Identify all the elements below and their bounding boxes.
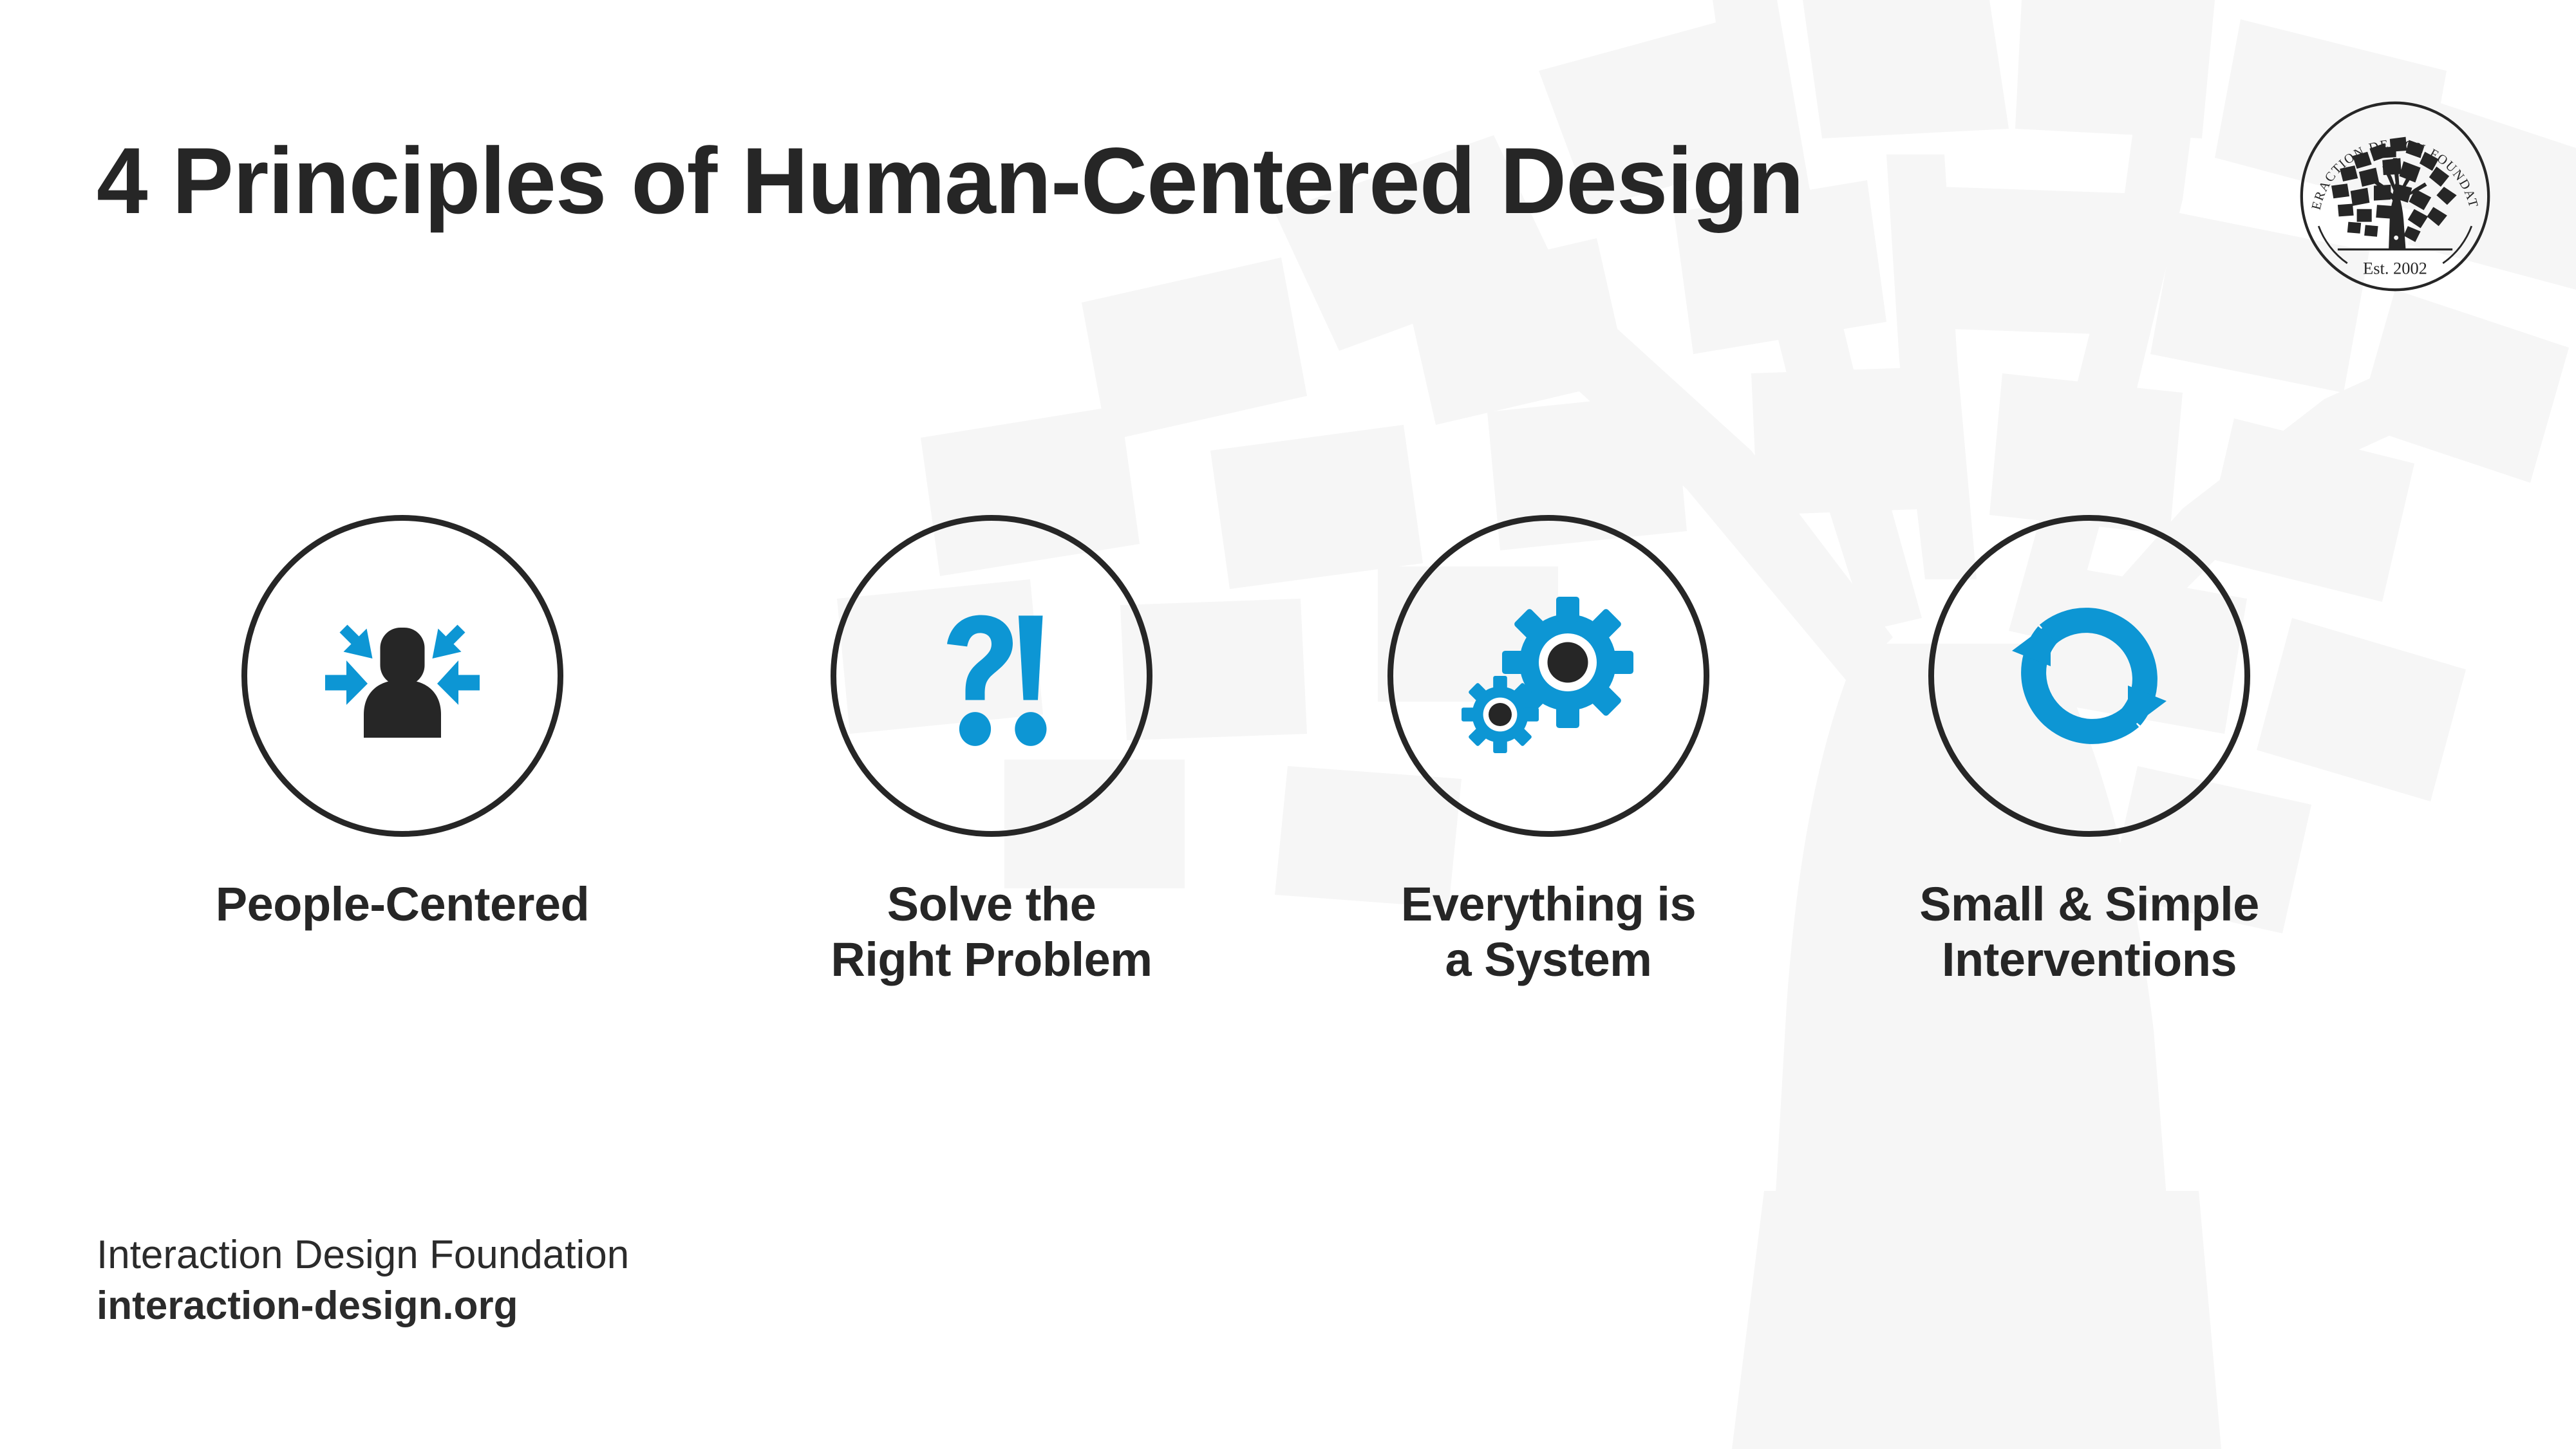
idf-logo-badge: INTERACTION DESIGN FOUNDATION Est. 2002 <box>2289 90 2501 303</box>
footer: Interaction Design Foundation interactio… <box>97 1229 629 1332</box>
principle-label-3: Everything is a System <box>1401 877 1696 987</box>
principle-label-2: Solve the Right Problem <box>831 877 1152 987</box>
principle-people-centered: People-Centered <box>106 515 699 932</box>
question-exclamation-icon <box>895 579 1088 772</box>
page-title: 4 Principles of Human-Centered Design <box>97 134 1803 228</box>
principle-everything-is-a-system: Everything is a System <box>1252 515 1845 987</box>
principle-label-4: Small & Simple Interventions <box>1919 877 2259 987</box>
slide-canvas: 4 Principles of Human-Centered Design IN… <box>0 0 2576 1449</box>
principle-small-simple-interventions: Small & Simple Interventions <box>1793 515 2385 987</box>
principle-label-1: People-Centered <box>216 877 590 932</box>
principle-solve-right-problem: Solve the Right Problem <box>695 515 1288 987</box>
cycle-refresh-arrows-icon <box>1993 579 2186 772</box>
person-with-inward-arrows-icon <box>306 579 499 772</box>
footer-organization: Interaction Design Foundation <box>97 1229 629 1280</box>
footer-website[interactable]: interaction-design.org <box>97 1280 629 1331</box>
principles-row: People-Centered <box>0 515 2576 987</box>
two-gears-icon <box>1452 579 1645 772</box>
principle-icon-circle-4 <box>1928 515 2250 837</box>
principle-icon-circle-3 <box>1387 515 1709 837</box>
principle-icon-circle-1 <box>241 515 563 837</box>
principle-icon-circle-2 <box>831 515 1152 837</box>
svg-text:Est. 2002: Est. 2002 <box>2363 258 2427 277</box>
